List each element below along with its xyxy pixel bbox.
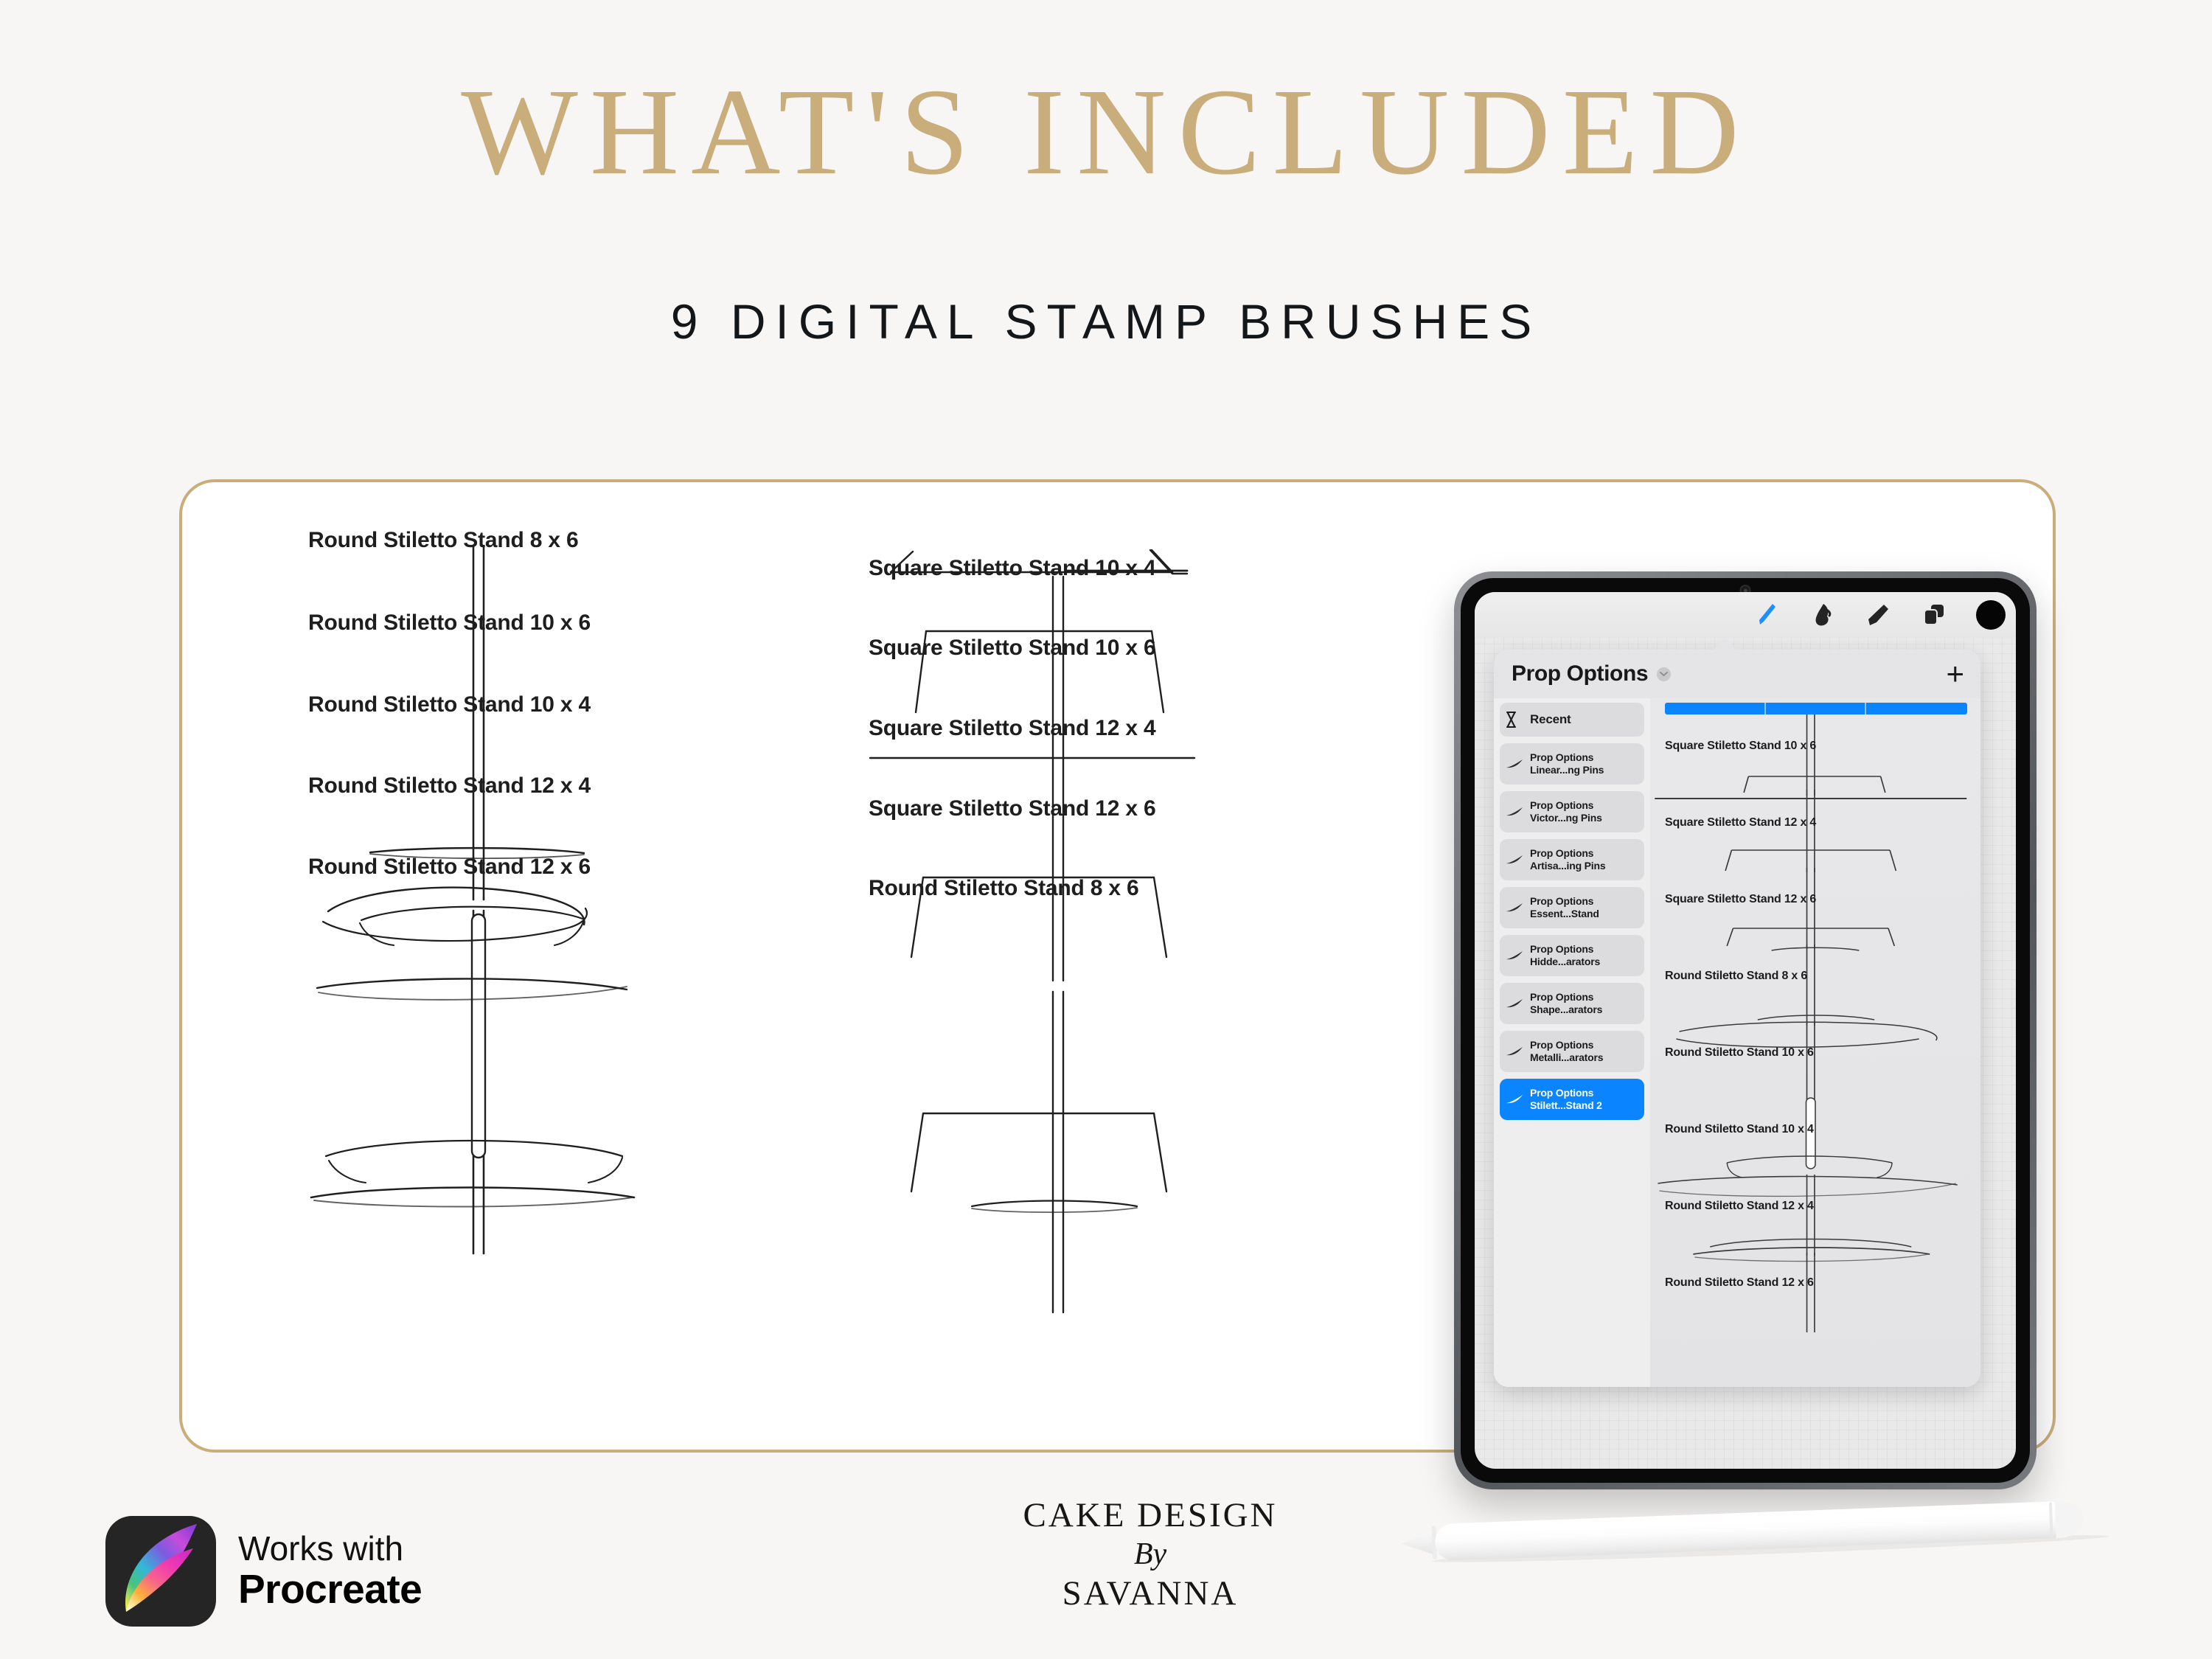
brush-set-label-1: Prop Options	[1530, 847, 1593, 859]
brush-set-item[interactable]: Prop Options Essent...Stand	[1500, 887, 1644, 928]
brush-item[interactable]: Round Stiletto Stand 10 x 4	[1650, 1102, 1980, 1179]
brush-set-label-1: Prop Options	[1530, 943, 1593, 955]
brush-label: Round Stiletto Stand 12 x 6	[1665, 1276, 1814, 1290]
brush-label: Square Stiletto Stand 10 x 6	[1665, 740, 1816, 753]
brush-thumbnail-list[interactable]: Square Stiletto Stand 10 x 6 Square Stil…	[1650, 698, 1980, 1387]
brush-item[interactable]: Square Stiletto Stand 12 x 4	[1650, 796, 1980, 872]
brush-item[interactable]: Square Stiletto Stand 12 x 6	[1650, 872, 1980, 949]
square-stands-illustration	[877, 568, 1438, 1401]
brush-item[interactable]: Square Stiletto Stand 10 x 6	[1650, 719, 1980, 796]
brush-set-label-2: Shape...arators	[1530, 1004, 1602, 1015]
stand-label: Square Stiletto Stand 12 x 6	[869, 796, 1156, 821]
works-with-procreate-badge: Works with Procreate	[105, 1516, 422, 1627]
brush-set-label-2: Stilett...Stand 2	[1530, 1099, 1602, 1111]
brush-set-item[interactable]: Prop Options Victor...ng Pins	[1500, 791, 1644, 832]
brush-stroke-icon	[1506, 1094, 1525, 1105]
badge-line-1: Works with	[238, 1531, 422, 1568]
procreate-logo-icon	[105, 1516, 216, 1627]
badge-line-2: Procreate	[238, 1568, 422, 1611]
brush-set-label-1: Prop Options	[1530, 895, 1593, 907]
stand-label: Round Stiletto Stand 10 x 4	[308, 692, 591, 717]
brush-set-item[interactable]: Prop Options Shape...arators	[1500, 983, 1644, 1024]
stand-label: Square Stiletto Stand 10 x 4	[869, 556, 1156, 581]
signature-line-1: CAKE DESIGN	[995, 1495, 1305, 1535]
brush-set-label-1: Prop Options	[1530, 1039, 1593, 1051]
signature-line-2: By	[995, 1537, 1305, 1572]
brush-item[interactable]: Round Stiletto Stand 12 x 6	[1650, 1256, 1980, 1332]
brush-stroke-icon	[1506, 902, 1525, 913]
ipad-device: Prop Options +	[1454, 571, 2037, 1489]
add-brush-button[interactable]: +	[1946, 663, 1964, 684]
brush-library-panel: Prop Options +	[1494, 650, 1980, 1387]
brush-item[interactable]: Round Stiletto Stand 10 x 6	[1650, 1026, 1980, 1102]
brush-set-title: Prop Options	[1512, 661, 1648, 686]
signature-line-3: SAVANNA	[995, 1573, 1305, 1613]
color-swatch[interactable]	[1976, 600, 2006, 630]
brush-panel-body: Recent Prop Options Linear...ng Pins	[1494, 698, 1980, 1387]
brush-set-label-2: Essent...Stand	[1530, 908, 1599, 919]
brush-label: Square Stiletto Stand 12 x 4	[1665, 816, 1816, 829]
brush-set-item[interactable]: Prop Options Hidde...arators	[1500, 935, 1644, 976]
brush-set-label-1: Prop Options	[1530, 751, 1593, 763]
brush-set-label-2: Linear...ng Pins	[1530, 764, 1604, 776]
hourglass-icon	[1506, 712, 1525, 728]
brush-stroke-icon	[1506, 950, 1525, 961]
chevron-down-icon[interactable]	[1657, 667, 1671, 681]
stand-label: Round Stiletto Stand 12 x 4	[308, 773, 591, 799]
brush-set-label-1: Prop Options	[1530, 991, 1593, 1003]
stand-label: Round Stiletto Stand 8 x 6	[869, 876, 1139, 901]
brush-set-label-2: Victor...ng Pins	[1530, 812, 1602, 824]
brush-label: Round Stiletto Stand 8 x 6	[1665, 970, 1807, 983]
brush-stroke-icon	[1506, 998, 1525, 1009]
layers-icon[interactable]	[1920, 601, 1948, 629]
smudge-icon[interactable]	[1808, 601, 1836, 629]
brush-stroke-icon	[1506, 759, 1525, 769]
stand-label: Round Stiletto Stand 8 x 6	[308, 528, 579, 553]
page-title: WHAT'S INCLUDED	[0, 70, 2212, 194]
apple-pencil	[1385, 1493, 2132, 1569]
stand-label: Square Stiletto Stand 12 x 4	[869, 716, 1156, 741]
brush-set-label-1: Prop Options	[1530, 799, 1593, 811]
selected-brush-indicator	[1665, 703, 1967, 714]
eraser-icon[interactable]	[1864, 601, 1892, 629]
page-subtitle: 9 DIGITAL STAMP BRUSHES	[0, 293, 2212, 349]
brush-set-label-2: Hidde...arators	[1530, 956, 1600, 967]
brush-set-label-1: Prop Options	[1530, 1087, 1593, 1099]
brush-label: Square Stiletto Stand 12 x 6	[1665, 893, 1816, 906]
brush-set-item[interactable]: Prop Options Linear...ng Pins	[1500, 743, 1644, 785]
ipad-screen: Prop Options +	[1475, 592, 2016, 1469]
stand-label: Round Stiletto Stand 10 x 6	[308, 611, 591, 636]
brush-set-item[interactable]: Prop Options Metalli...arators	[1500, 1031, 1644, 1072]
brush-set-item[interactable]: Prop Options Artisa...ing Pins	[1500, 839, 1644, 880]
brush-item[interactable]: Round Stiletto Stand 12 x 4	[1650, 1179, 1980, 1256]
brush-item[interactable]: Round Stiletto Stand 8 x 6	[1650, 949, 1980, 1026]
brand-signature: CAKE DESIGN By SAVANNA	[995, 1495, 1305, 1613]
preview-column-middle: Square Stiletto Stand 10 x 4 Square Stil…	[877, 568, 1438, 1401]
brush-set-item-selected[interactable]: Prop Options Stilett...Stand 2	[1500, 1079, 1644, 1120]
panel-caret	[1712, 638, 1737, 650]
brush-label: Round Stiletto Stand 12 x 4	[1665, 1200, 1814, 1213]
ipad-bezel: Prop Options +	[1461, 578, 2030, 1483]
poster-root: WHAT'S INCLUDED 9 DIGITAL STAMP BRUSHES	[0, 0, 2212, 1659]
brush-set-label-2: Artisa...ing Pins	[1530, 860, 1605, 872]
badge-text: Works with Procreate	[238, 1531, 422, 1611]
procreate-toolbar	[1475, 592, 2016, 638]
brush-set-recent[interactable]: Recent	[1500, 703, 1644, 737]
brush-label: Round Stiletto Stand 10 x 4	[1665, 1123, 1814, 1136]
brush-panel-header: Prop Options +	[1494, 650, 1980, 698]
brush-stroke-icon	[1506, 807, 1525, 817]
stand-label: Square Stiletto Stand 10 x 6	[869, 636, 1156, 661]
brush-stroke-icon	[1506, 855, 1525, 865]
brush-label: Round Stiletto Stand 10 x 6	[1665, 1046, 1814, 1060]
brush-set-label: Recent	[1530, 712, 1571, 726]
round-stands-illustration	[317, 546, 863, 1379]
brush-stroke-icon	[1506, 1046, 1525, 1057]
paintbrush-icon[interactable]	[1752, 601, 1780, 629]
brush-set-label-2: Metalli...arators	[1530, 1051, 1603, 1063]
preview-column-left: Round Stiletto Stand 8 x 6 Round Stilett…	[317, 546, 863, 1379]
brush-set-list[interactable]: Recent Prop Options Linear...ng Pins	[1494, 698, 1650, 1387]
stand-label: Round Stiletto Stand 12 x 6	[308, 855, 591, 880]
